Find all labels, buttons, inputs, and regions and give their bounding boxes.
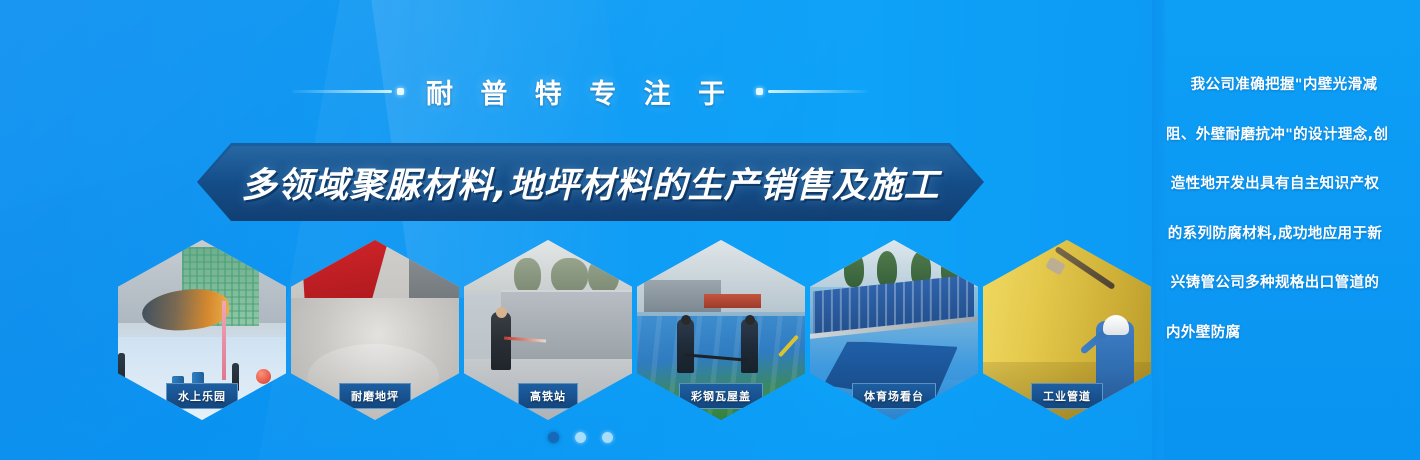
headline-banner: 多领域聚脲材料,地坪材料的生产销售及施工 bbox=[197, 143, 984, 221]
thumbnail-item-wear-resistant-flooring[interactable]: 耐磨地坪 bbox=[291, 240, 459, 420]
thumbnail-item-industrial-pipeline[interactable]: 工业管道 bbox=[983, 240, 1151, 420]
eyebrow-heading: 耐 普 特 专 注 于 bbox=[0, 72, 1160, 111]
eyebrow-text: 耐 普 特 专 注 于 bbox=[426, 72, 734, 111]
side-description-line: 内外壁防腐 bbox=[1166, 326, 1384, 341]
thumbnail-item-high-speed-rail-station[interactable]: 高铁站 bbox=[464, 240, 632, 420]
side-description: 我公司准确把握"内壁光滑减 阻、外壁耐磨抗冲"的设计理念,创 造性地开发出具有自… bbox=[1166, 78, 1384, 340]
side-description-line: 造性地开发出具有自主知识产权 bbox=[1166, 177, 1384, 192]
side-description-line: 我公司准确把握"内壁光滑减 bbox=[1166, 78, 1384, 93]
thumbnail-item-stadium-stand[interactable]: 体育场看台 bbox=[810, 240, 978, 420]
promo-banner: 耐 普 特 专 注 于 多领域聚脲材料,地坪材料的生产销售及施工 水上乐园 bbox=[0, 0, 1420, 460]
carousel-dot-1[interactable] bbox=[548, 432, 559, 443]
thumbnail-label: 彩钢瓦屋盖 bbox=[679, 383, 763, 409]
thumbnail-gallery: 水上乐园 耐磨地坪 高铁站 bbox=[118, 240, 1158, 420]
thumbnail-label: 水上乐园 bbox=[166, 383, 238, 409]
headline-text: 多领域聚脲材料,地坪材料的生产销售及施工 bbox=[241, 157, 939, 208]
decorative-line-left-icon bbox=[292, 88, 404, 95]
side-description-line: 的系列防腐材料,成功地应用于新 bbox=[1166, 227, 1384, 242]
carousel-pagination[interactable] bbox=[0, 432, 1420, 443]
thumbnail-item-water-park[interactable]: 水上乐园 bbox=[118, 240, 286, 420]
thumbnail-item-color-steel-roof[interactable]: 彩钢瓦屋盖 bbox=[637, 240, 805, 420]
thumbnail-label: 耐磨地坪 bbox=[339, 383, 411, 409]
thumbnail-label: 工业管道 bbox=[1031, 383, 1103, 409]
thumbnail-label: 高铁站 bbox=[518, 383, 578, 409]
carousel-dot-2[interactable] bbox=[575, 432, 586, 443]
carousel-dot-3[interactable] bbox=[602, 432, 613, 443]
side-description-line: 兴铸管公司多种规格出口管道的 bbox=[1166, 276, 1384, 291]
decorative-line-right-icon bbox=[756, 88, 868, 95]
side-description-line: 阻、外壁耐磨抗冲"的设计理念,创 bbox=[1166, 128, 1384, 143]
thumbnail-label: 体育场看台 bbox=[852, 383, 936, 409]
